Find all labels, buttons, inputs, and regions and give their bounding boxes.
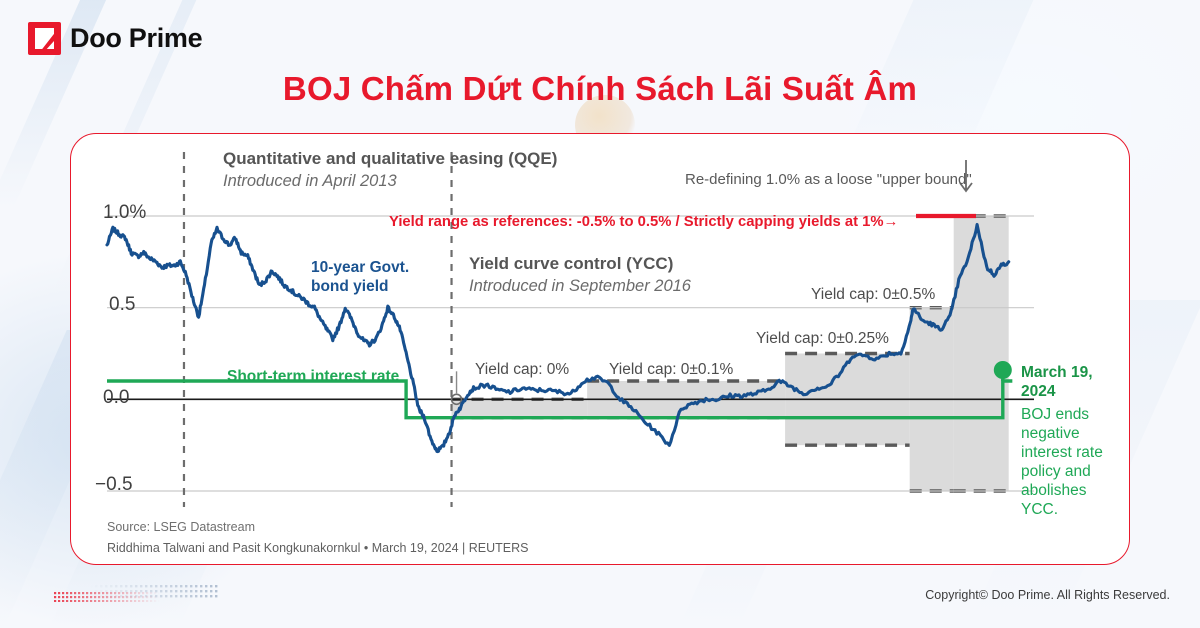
y-tick-1: 1.0% [103,202,146,224]
footer-copyright: Copyright© Doo Prime. All Rights Reserve… [925,588,1170,602]
event-ycc-heading: Yield curve control (YCC) [469,254,673,274]
callout-marker-dot [994,361,1012,379]
series-label-bond-yield: 10-year Govt.bond yield [311,258,409,297]
band-region-0 [452,399,588,417]
band-label-cap-01: Yield cap: 0±0.1% [609,361,733,379]
band-label-cap-025: Yield cap: 0±0.25% [756,330,889,348]
footer-decoration [30,580,280,606]
annotation-yield-range-arrow: → [884,214,899,230]
event-qqe-heading: Quantitative and qualitative easing (QQE… [223,149,557,169]
chart-plot [71,134,1131,566]
band-label-cap-05: Yield cap: 0±0.5% [811,286,935,304]
doo-prime-logo-icon [28,22,61,55]
band-region-4 [954,216,1009,491]
callout-body: BOJ endsnegativeinterest ratepolicy anda… [1021,406,1127,519]
credit-line: Riddhima Talwani and Pasit Kongkunakornk… [107,541,529,555]
brand-name: Doo Prime [70,23,202,54]
brand-name-text: Doo Prime [70,23,202,53]
source-line: Source: LSEG Datastream [107,520,255,534]
series-label-short-rate: Short-term interest rate [227,368,399,386]
annotation-yield-range: Yield range as references: -0.5% to 0.5%… [389,214,898,230]
y-tick-2: 0.5 [109,294,135,316]
y-tick-3: 0.0 [103,387,129,409]
annotation-yield-range-text: Yield range as references: -0.5% to 0.5%… [389,214,884,230]
brand-logo: Doo Prime [28,22,202,55]
page-title: BOJ Chấm Dứt Chính Sách Lãi Suất Âm [0,70,1200,108]
callout-date: March 19,2024 [1021,364,1131,401]
chart-card: 1.0% 0.5 0.0 −0.5 Quantitative and quali… [70,133,1130,565]
event-ycc-subtitle: Introduced in September 2016 [469,277,691,296]
annotation-upper-bound: Re-defining 1.0% as a loose "upper bound… [685,171,972,188]
y-tick-4: −0.5 [95,474,133,496]
event-qqe-subtitle: Introduced in April 2013 [223,172,397,191]
band-label-cap-0: Yield cap: 0% [475,361,569,379]
